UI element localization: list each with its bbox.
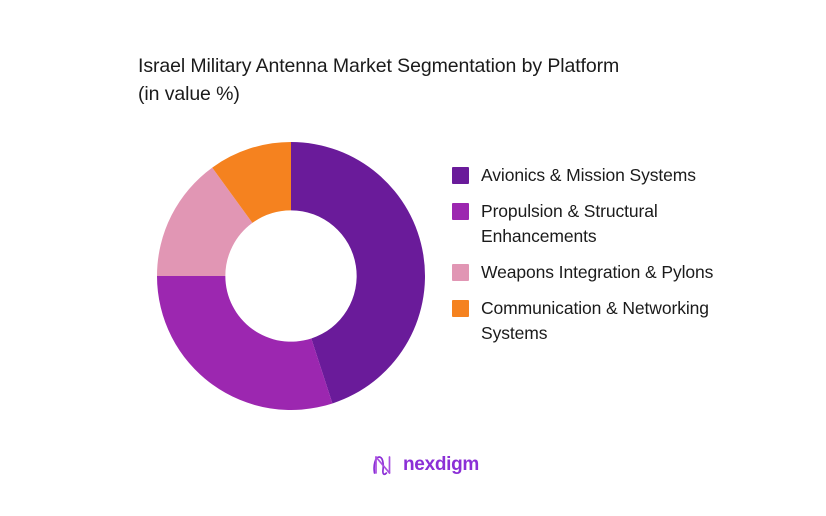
legend-item[interactable]: Weapons Integration & Pylons — [452, 260, 752, 285]
donut-slice-group — [157, 142, 425, 410]
legend-color-swatch — [452, 167, 469, 184]
legend-item-label: Propulsion & Structural Enhancements — [481, 199, 731, 249]
legend-item[interactable]: Communication & Networking Systems — [452, 296, 752, 346]
donut-chart-svg — [157, 142, 425, 410]
slide-canvas: Israel Military Antenna Market Segmentat… — [0, 0, 826, 516]
donut-slice[interactable] — [157, 276, 332, 410]
legend-item-label: Avionics & Mission Systems — [481, 163, 696, 188]
brand-name: nexdigm — [403, 454, 479, 476]
donut-chart — [157, 142, 425, 410]
legend-item-label: Weapons Integration & Pylons — [481, 260, 713, 285]
chart-legend: Avionics & Mission SystemsPropulsion & S… — [452, 163, 752, 357]
legend-item-label: Communication & Networking Systems — [481, 296, 731, 346]
brand-logo: nexdigm — [370, 452, 479, 478]
legend-item[interactable]: Propulsion & Structural Enhancements — [452, 199, 752, 249]
chart-title: Israel Military Antenna Market Segmentat… — [138, 52, 738, 108]
legend-item[interactable]: Avionics & Mission Systems — [452, 163, 752, 188]
legend-color-swatch — [452, 264, 469, 281]
legend-color-swatch — [452, 203, 469, 220]
legend-color-swatch — [452, 300, 469, 317]
nexdigm-wave-icon — [370, 452, 396, 478]
